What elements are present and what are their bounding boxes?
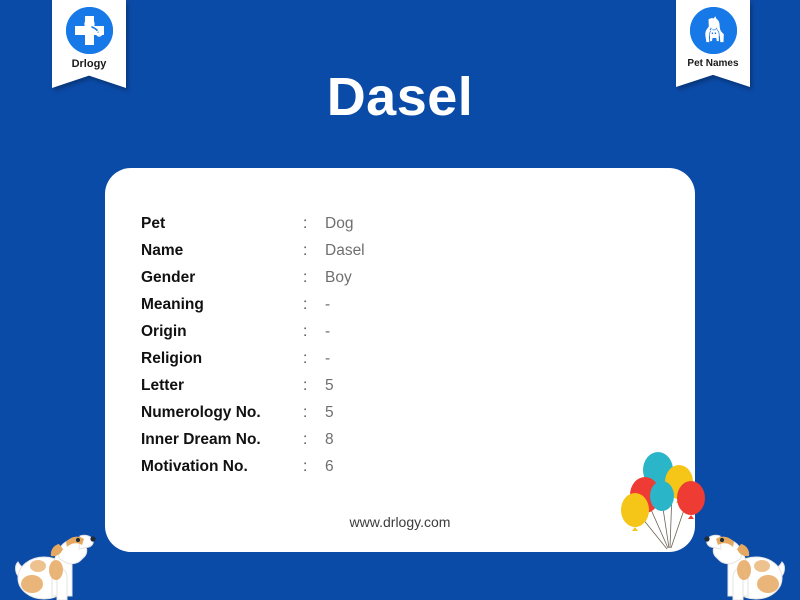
row-separator: : xyxy=(303,237,325,264)
row-value: 6 xyxy=(325,453,365,480)
row-separator: : xyxy=(303,264,325,291)
row-value: Dasel xyxy=(325,237,365,264)
row-label: Motivation No. xyxy=(141,453,303,480)
pet-detail-table: Pet : Dog Name : Dasel Gender : Boy Mean… xyxy=(141,210,365,480)
row-value: - xyxy=(325,345,365,372)
sitting-dog-icon xyxy=(14,504,104,600)
row-separator: : xyxy=(303,426,325,453)
row-label: Letter xyxy=(141,372,303,399)
row-value: - xyxy=(325,291,365,318)
row-separator: : xyxy=(303,372,325,399)
row-separator: : xyxy=(303,318,325,345)
row-label: Inner Dream No. xyxy=(141,426,303,453)
table-row: Pet : Dog xyxy=(141,210,365,237)
row-label: Origin xyxy=(141,318,303,345)
table-row: Numerology No. : 5 xyxy=(141,399,365,426)
row-label: Religion xyxy=(141,345,303,372)
dog-cat-logo-icon xyxy=(690,7,737,54)
row-value: Dog xyxy=(325,210,365,237)
table-row: Motivation No. : 6 xyxy=(141,453,365,480)
row-separator: : xyxy=(303,453,325,480)
row-separator: : xyxy=(303,345,325,372)
table-row: Origin : - xyxy=(141,318,365,345)
page-title: Dasel xyxy=(0,66,800,128)
table-row: Meaning : - xyxy=(141,291,365,318)
sitting-dog-icon xyxy=(696,504,786,600)
website-url: www.drlogy.com xyxy=(105,514,695,530)
row-separator: : xyxy=(303,210,325,237)
doctor-cross-logo-icon: P xyxy=(66,7,113,54)
row-label: Name xyxy=(141,237,303,264)
row-label: Gender xyxy=(141,264,303,291)
table-row: Religion : - xyxy=(141,345,365,372)
row-label: Meaning xyxy=(141,291,303,318)
table-row: Gender : Boy xyxy=(141,264,365,291)
pet-info-card: Pet : Dog Name : Dasel Gender : Boy Mean… xyxy=(105,168,695,552)
row-label: Numerology No. xyxy=(141,399,303,426)
row-separator: : xyxy=(303,291,325,318)
row-value: 5 xyxy=(325,399,365,426)
table-row: Letter : 5 xyxy=(141,372,365,399)
row-value: Boy xyxy=(325,264,365,291)
row-label: Pet xyxy=(141,210,303,237)
table-row: Name : Dasel xyxy=(141,237,365,264)
row-separator: : xyxy=(303,399,325,426)
pet-name-card-page: P Drlogy Pet Names xyxy=(0,0,800,600)
table-row: Inner Dream No. : 8 xyxy=(141,426,365,453)
row-value: 8 xyxy=(325,426,365,453)
row-value: 5 xyxy=(325,372,365,399)
row-value: - xyxy=(325,318,365,345)
